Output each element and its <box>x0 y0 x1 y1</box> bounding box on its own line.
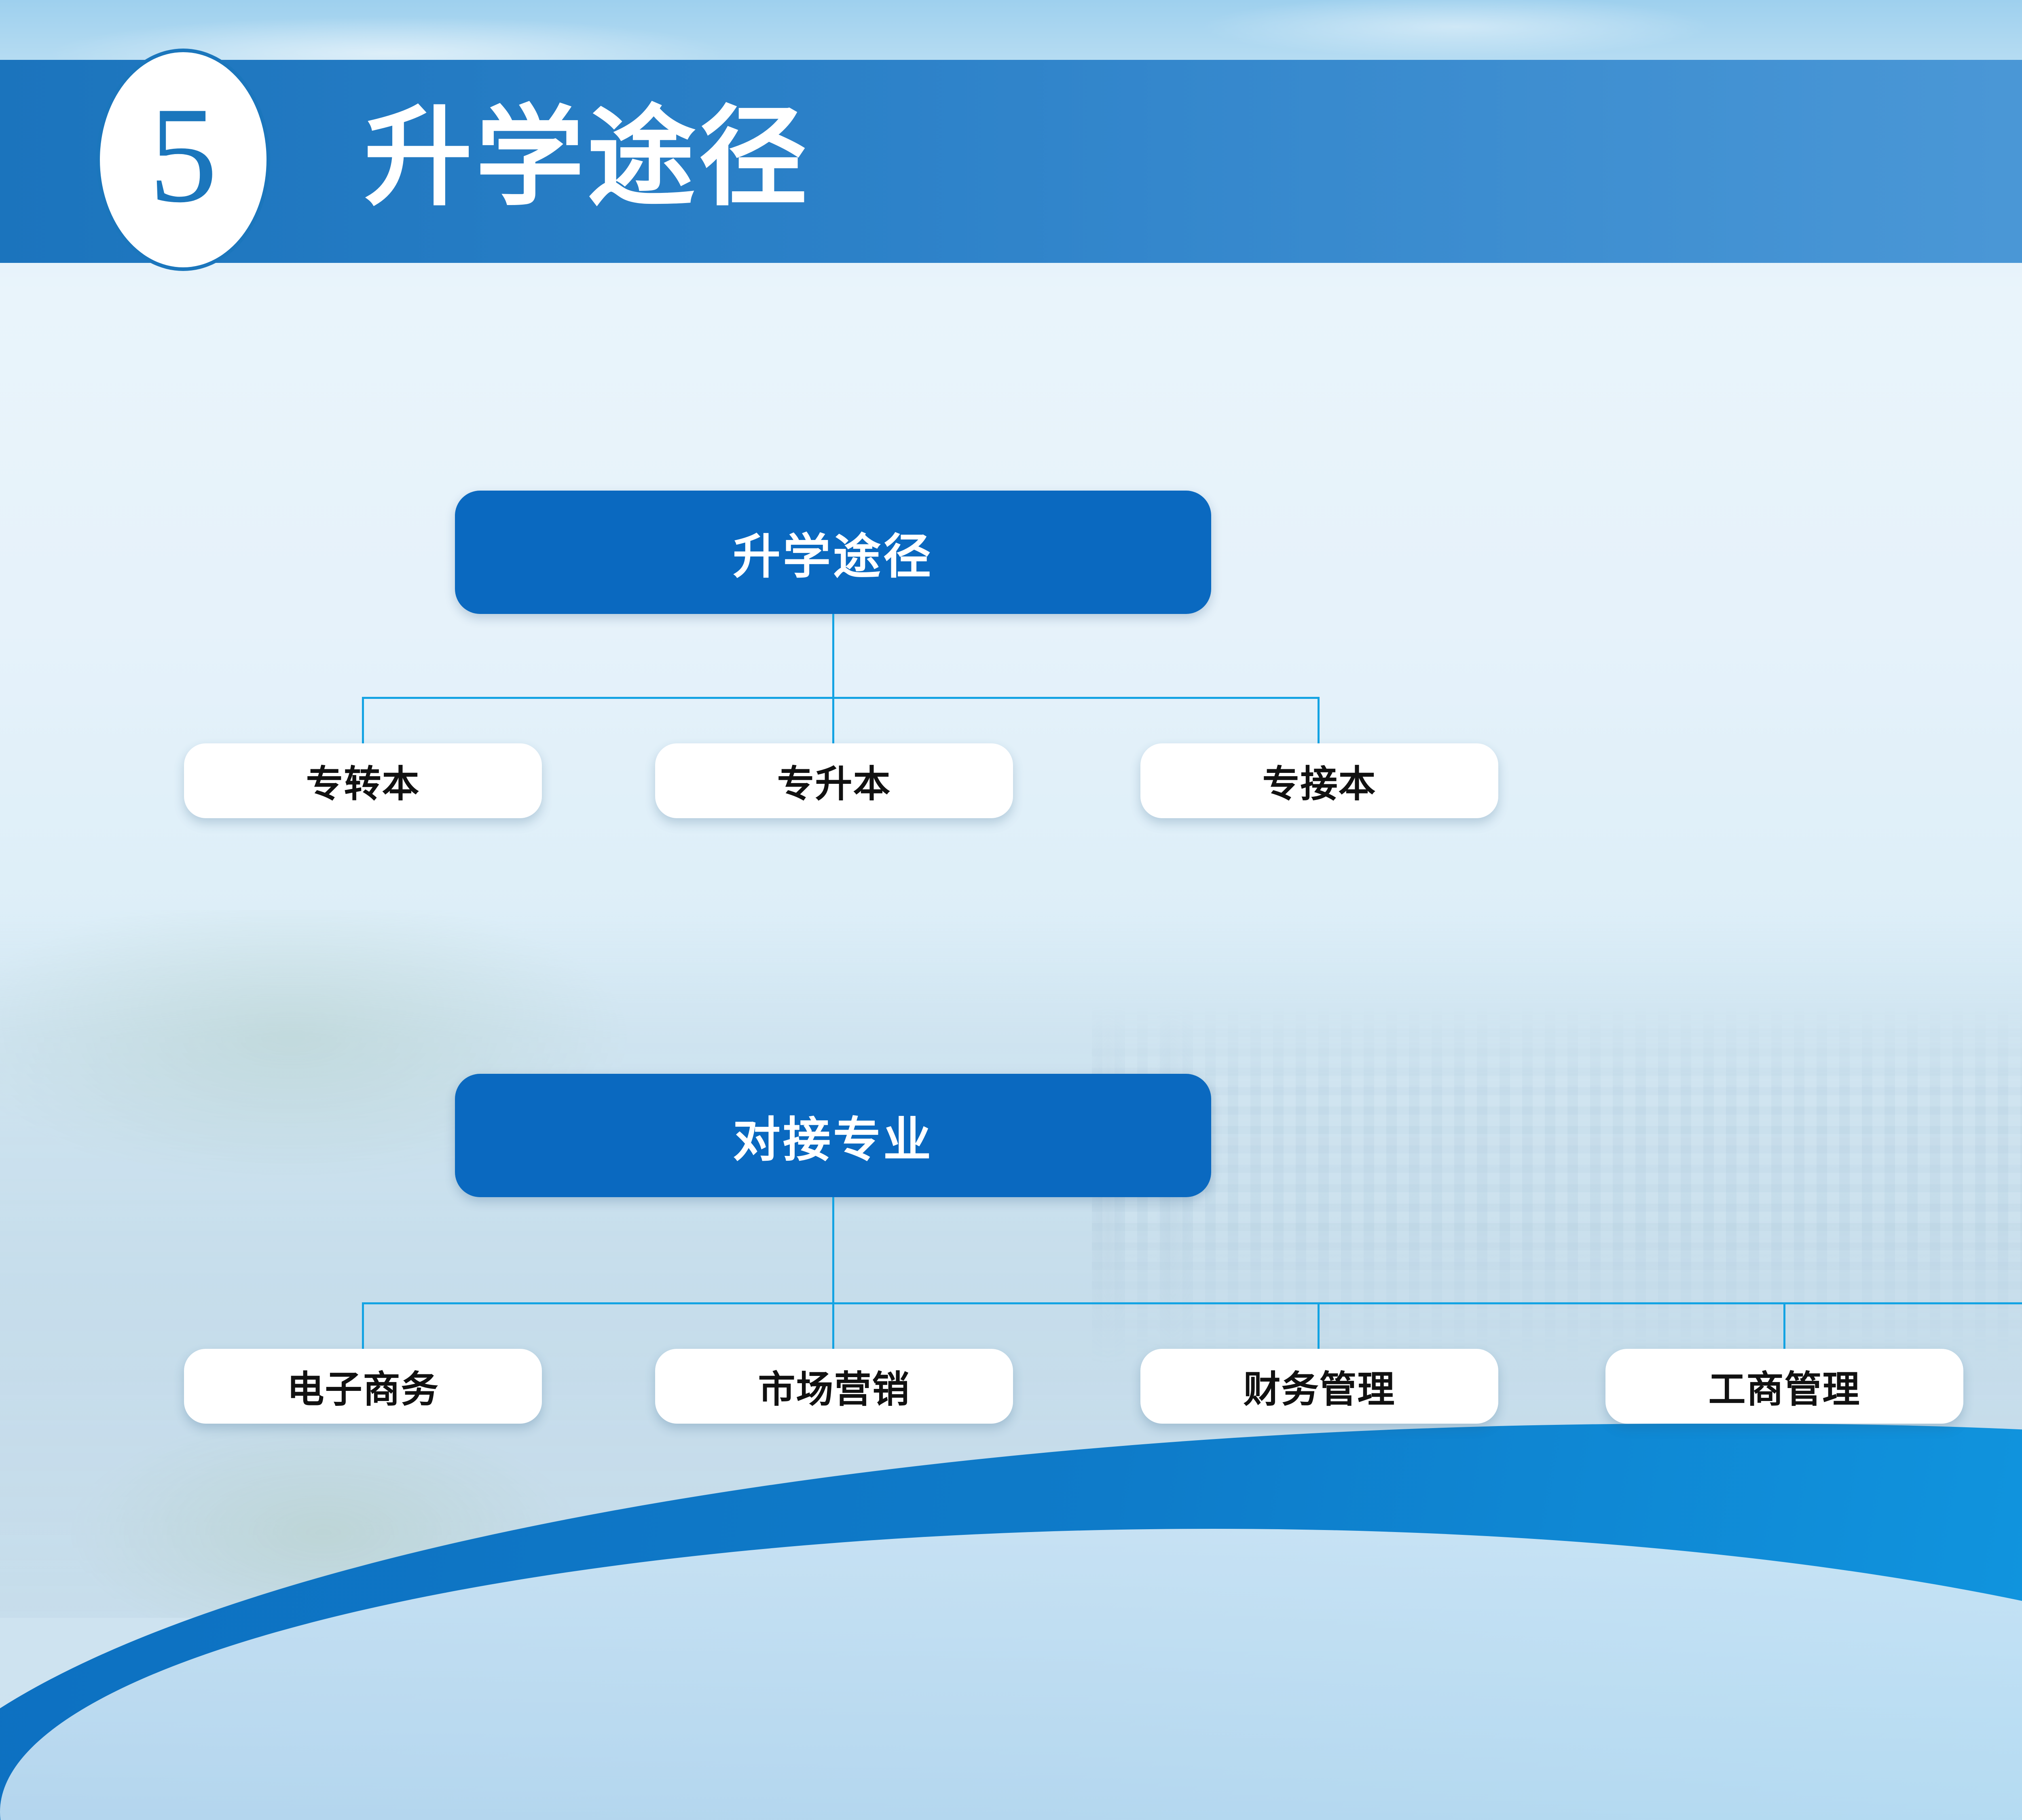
tree-majors-child-4-label: 工商管理 <box>1708 1359 1860 1413</box>
tree-upgrade-child-2-label: 专升本 <box>777 754 891 808</box>
tree-upgrade-child-3-label: 专接本 <box>1262 754 1376 808</box>
tree-upgrade-child-2[interactable]: 专升本 <box>655 743 1013 818</box>
connector-upgrade-stem <box>832 614 834 697</box>
tree-majors-child-3-label: 财务管理 <box>1243 1359 1395 1413</box>
tree-upgrade-parent[interactable]: 升学途径 <box>455 491 1211 614</box>
page-title: 升学途径 <box>364 103 810 212</box>
connector-majors-stem <box>832 1197 834 1302</box>
connector-majors-drop-3 <box>1318 1302 1320 1349</box>
tree-majors-child-2-label: 市场营销 <box>758 1359 910 1413</box>
tree-majors-child-4[interactable]: 工商管理 <box>1605 1349 1963 1424</box>
tree-majors-child-1-label: 电子商务 <box>287 1359 439 1413</box>
connector-upgrade-bus <box>362 697 1320 699</box>
connector-upgrade-drop-3 <box>1318 697 1320 743</box>
section-number-badge: 5 <box>96 49 270 271</box>
connector-majors-drop-4 <box>1783 1302 1785 1349</box>
tree-majors-parent[interactable]: 对接专业 <box>455 1074 1211 1197</box>
connector-majors-bus <box>362 1302 2022 1304</box>
tree-upgrade-parent-label: 升学途径 <box>733 518 933 587</box>
slide-root: 5 升学途径 <box>0 0 2022 1820</box>
connector-majors-drop-2 <box>832 1302 834 1349</box>
tree-upgrade-child-1[interactable]: 专转本 <box>184 743 542 818</box>
connector-majors-drop-1 <box>362 1302 364 1349</box>
tree-upgrade-child-3[interactable]: 专接本 <box>1140 743 1498 818</box>
connector-upgrade-drop-2 <box>832 697 834 743</box>
connector-upgrade-drop-1 <box>362 697 364 743</box>
tree-majors-parent-label: 对接专业 <box>733 1101 933 1170</box>
section-number: 5 <box>149 86 218 224</box>
tree-majors-child-1[interactable]: 电子商务 <box>184 1349 542 1424</box>
campus-buildings-texture <box>1092 1003 2022 1367</box>
tree-majors-child-2[interactable]: 市场营销 <box>655 1349 1013 1424</box>
tree-majors-child-3[interactable]: 财务管理 <box>1140 1349 1498 1424</box>
tree-upgrade-child-1-label: 专转本 <box>306 754 420 808</box>
header-band <box>0 60 2022 263</box>
